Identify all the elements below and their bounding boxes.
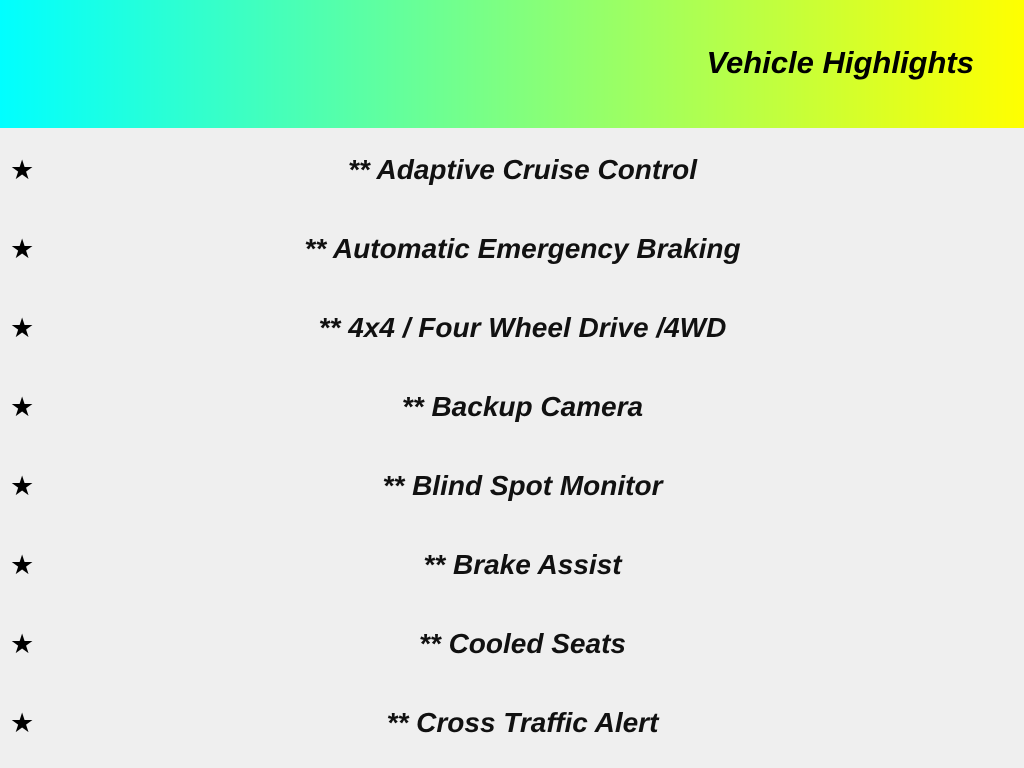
list-item[interactable]: ★ ** Brake Assist [0, 523, 1024, 602]
highlights-list: ★ ** Adaptive Cruise Control ★ ** Automa… [0, 128, 1024, 760]
list-item-label: ** Cross Traffic Alert [0, 708, 1024, 737]
list-item-label: ** 4x4 / Four Wheel Drive /4WD [0, 313, 1024, 342]
list-item[interactable]: ★ ** Blind Spot Monitor [0, 444, 1024, 523]
list-item[interactable]: ★ ** Backup Camera [0, 365, 1024, 444]
list-item[interactable]: ★ ** Adaptive Cruise Control [0, 128, 1024, 207]
list-item-label: ** Brake Assist [0, 550, 1024, 579]
list-item-label: ** Blind Spot Monitor [0, 471, 1024, 500]
list-item[interactable]: ★ ** Automatic Emergency Braking [0, 207, 1024, 286]
list-item-label: ** Automatic Emergency Braking [0, 234, 1024, 263]
list-item-label: ** Cooled Seats [0, 629, 1024, 658]
list-item-label: ** Adaptive Cruise Control [0, 155, 1024, 184]
vehicle-highlights-page: Vehicle Highlights ★ ** Adaptive Cruise … [0, 0, 1024, 768]
page-title: Vehicle Highlights [706, 47, 974, 78]
list-item[interactable]: ★ ** 4x4 / Four Wheel Drive /4WD [0, 286, 1024, 365]
list-item[interactable]: ★ ** Cooled Seats [0, 602, 1024, 681]
list-item-label: ** Backup Camera [0, 392, 1024, 421]
header-banner: Vehicle Highlights [0, 0, 1024, 128]
list-item[interactable]: ★ ** Cross Traffic Alert [0, 681, 1024, 760]
